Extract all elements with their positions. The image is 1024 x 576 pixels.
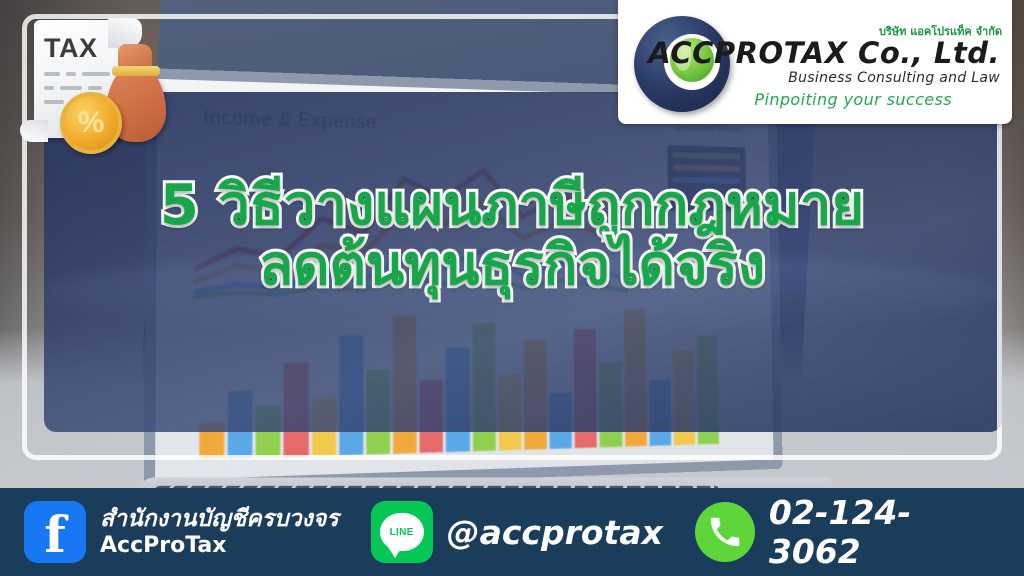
line-contact[interactable]: LINE @accprotax: [371, 501, 663, 563]
phone-contact[interactable]: 02-124-3062: [695, 493, 1000, 571]
receipt-tax-label: TAX: [44, 33, 98, 64]
money-bag-tie: [112, 66, 160, 76]
headline-line-2: ลดต้นทุนธุรกิจได้จริง: [0, 236, 1024, 296]
phone-icon[interactable]: [695, 502, 755, 562]
logo-slogan: Pinpoiting your success: [754, 90, 952, 109]
facebook-label: สำนักงานบัญชีครบวงจร AccProTax: [100, 506, 339, 558]
facebook-label-line-2: AccProTax: [100, 533, 339, 559]
headline: 5 วิธีวางแผนภาษีถูกกฎหมาย ลดต้นทุนธุรกิจ…: [0, 176, 1024, 296]
line-icon[interactable]: LINE: [371, 501, 433, 563]
facebook-label-line-1: สำนักงานบัญชีครบวงจร: [100, 506, 339, 532]
facebook-icon[interactable]: f: [24, 501, 86, 563]
phone-number: 02-124-3062: [769, 493, 1000, 571]
line-icon-badge: LINE: [390, 527, 414, 538]
logo-company-name: ACCPROTAX Co., Ltd.: [648, 36, 1000, 70]
accprotax-logo-card: บริษัท แอคโปรแท็ค จำกัด ACCPROTAX Co., L…: [618, 0, 1012, 124]
logo-tagline: Business Consulting and Law: [788, 70, 1000, 86]
receipt-curl-bottom: [20, 120, 48, 142]
contact-bar: f สำนักงานบัญชีครบวงจร AccProTax LINE @a…: [0, 488, 1024, 576]
headline-line-1: 5 วิธีวางแผนภาษีถูกกฎหมาย: [160, 173, 864, 238]
facebook-contact[interactable]: f สำนักงานบัญชีครบวงจร AccProTax: [24, 501, 339, 563]
line-id: @accprotax: [447, 513, 663, 552]
tax-illustration: TAX: [18, 16, 170, 166]
percent-coin-icon: [60, 92, 122, 154]
